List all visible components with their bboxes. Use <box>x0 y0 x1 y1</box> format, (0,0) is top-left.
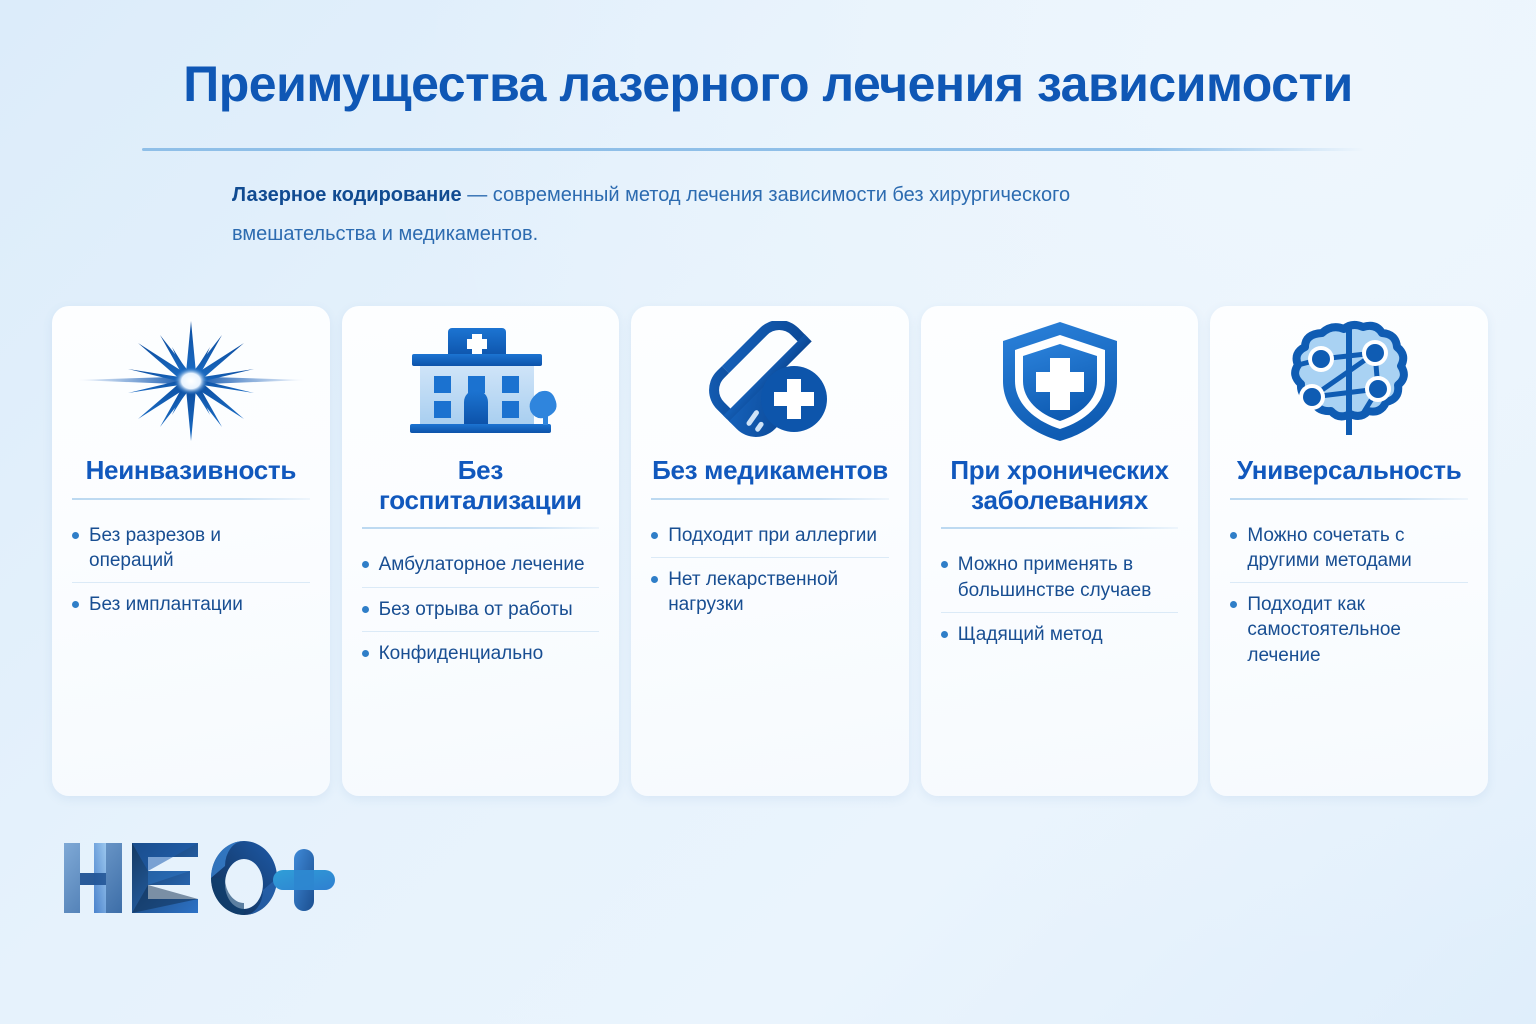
bullet-text: Подходит как самостоятельное лечение <box>1247 592 1468 668</box>
bullet-text: Можно сочетать с другими методами <box>1247 523 1468 574</box>
benefit-card-universality[interactable]: Универсальность Можно сочетать с другими… <box>1210 306 1488 796</box>
page-title: Преимущества лазерного лечения зависимос… <box>0 55 1536 113</box>
brand-logo[interactable]: НЕО+ <box>58 835 338 925</box>
subtitle-bold: Лазерное кодирование <box>232 184 462 206</box>
infographic-root: Преимущества лазерного лечения зависимос… <box>0 0 1536 1024</box>
bullet-dot-icon <box>362 650 369 657</box>
bullet-dot-icon <box>1230 601 1237 608</box>
card-title: Без медикаментов <box>651 456 889 486</box>
bullet-text: Нет лекарственной нагрузки <box>668 567 889 618</box>
card-title-divider <box>651 498 889 500</box>
list-item: Можно применять в большинстве случаев <box>941 543 1179 612</box>
list-item: Амбулаторное лечение <box>362 543 600 586</box>
hospital-building-icon <box>362 306 600 456</box>
bullet-dot-icon <box>1230 532 1237 539</box>
pill-capsule-icon <box>651 306 889 456</box>
bullet-dot-icon <box>651 576 658 583</box>
list-item: Без отрыва от работы <box>362 587 600 631</box>
brain-network-icon <box>1230 306 1468 456</box>
benefit-cards-row: Неинвазивность Без разрезов и операций Б… <box>52 306 1488 796</box>
list-item: Без имплантации <box>72 582 310 626</box>
card-title: При хронических заболеваниях <box>941 456 1179 515</box>
bullet-text: Без разрезов и операций <box>89 523 310 574</box>
bullet-text: Подходит при аллергии <box>668 523 889 548</box>
bullet-text: Щадящий метод <box>958 622 1179 647</box>
subtitle: Лазерное кодирование — современный метод… <box>232 176 1182 254</box>
bullet-text: Можно применять в большинстве случаев <box>958 552 1179 603</box>
bullet-dot-icon <box>941 631 948 638</box>
list-item: Подходит при аллергии <box>651 514 889 557</box>
bullet-dot-icon <box>362 561 369 568</box>
shield-cross-icon <box>941 306 1179 456</box>
list-item: Нет лекарственной нагрузки <box>651 557 889 627</box>
title-divider <box>142 148 1364 151</box>
benefit-card-no-hospitalization[interactable]: Без госпитализации Амбулаторное лечение … <box>342 306 620 796</box>
card-title-divider <box>72 498 310 500</box>
benefit-card-chronic-diseases[interactable]: При хронических заболеваниях Можно приме… <box>921 306 1199 796</box>
benefit-card-no-medication[interactable]: Без медикаментов Подходит при аллергии Н… <box>631 306 909 796</box>
card-title: Универсальность <box>1230 456 1468 486</box>
list-item: Конфиденциально <box>362 631 600 675</box>
bullet-text: Без имплантации <box>89 592 310 617</box>
bullet-dot-icon <box>72 601 79 608</box>
card-title: Неинвазивность <box>72 456 310 486</box>
bullet-text: Без отрыва от работы <box>379 597 600 622</box>
card-title: Без госпитализации <box>362 456 600 515</box>
laser-starburst-icon <box>72 306 310 456</box>
bullet-dot-icon <box>362 606 369 613</box>
card-bullet-list: Подходит при аллергии Нет лекарственной … <box>651 514 889 627</box>
card-bullet-list: Можно применять в большинстве случаев Ща… <box>941 543 1179 656</box>
bullet-dot-icon <box>941 561 948 568</box>
card-title-divider <box>941 527 1179 529</box>
list-item: Можно сочетать с другими методами <box>1230 514 1468 583</box>
list-item: Подходит как самостоятельное лечение <box>1230 582 1468 677</box>
benefit-card-noninvasive[interactable]: Неинвазивность Без разрезов и операций Б… <box>52 306 330 796</box>
list-item: Без разрезов и операций <box>72 514 310 583</box>
bullet-text: Конфиденциально <box>379 641 600 666</box>
card-title-divider <box>1230 498 1468 500</box>
card-bullet-list: Амбулаторное лечение Без отрыва от работ… <box>362 543 600 675</box>
bullet-dot-icon <box>651 532 658 539</box>
bullet-text: Амбулаторное лечение <box>379 552 600 577</box>
list-item: Щадящий метод <box>941 612 1179 656</box>
bullet-dot-icon <box>72 532 79 539</box>
card-title-divider <box>362 527 600 529</box>
card-bullet-list: Без разрезов и операций Без имплантации <box>72 514 310 627</box>
card-bullet-list: Можно сочетать с другими методами Подход… <box>1230 514 1468 677</box>
